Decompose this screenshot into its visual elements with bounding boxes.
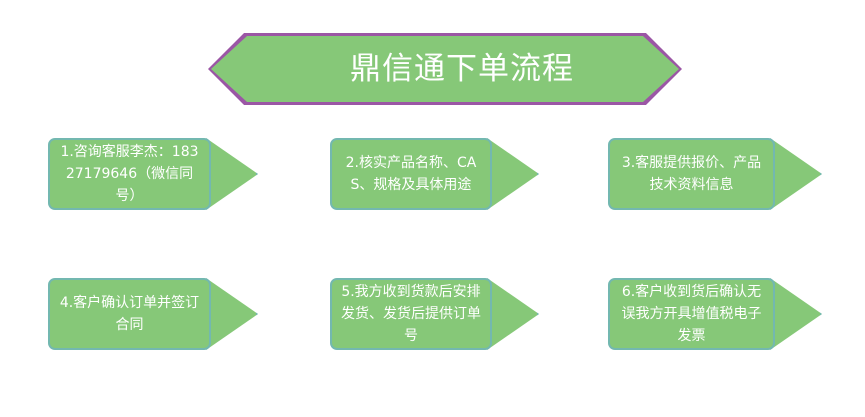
chevron-arrow-icon (770, 278, 822, 350)
chevron-arrow-icon (487, 278, 539, 350)
flow-step-body: 5.我方收到货款后安排发货、发货后提供订单号 (330, 278, 492, 350)
flow-step-label: 6.客户收到货后确认无误我方开具增值税电子发票 (610, 281, 773, 347)
flowchart-canvas: 鼎信通下单流程 1.咨询客服李杰：18327179646（微信同号） 2.核实产… (0, 0, 865, 417)
flow-step-6: 6.客户收到货后确认无误我方开具增值税电子发票 (608, 278, 823, 350)
flow-step-label: 2.核实产品名称、CAS、规格及具体用途 (332, 152, 490, 196)
flow-step-4: 4.客户确认订单并签订合同 (48, 278, 263, 350)
chevron-arrow-icon (206, 138, 258, 210)
flowchart-title-banner: 鼎信通下单流程 (208, 33, 682, 105)
flow-step-2: 2.核实产品名称、CAS、规格及具体用途 (330, 138, 540, 210)
flow-step-1: 1.咨询客服李杰：18327179646（微信同号） (48, 138, 263, 210)
flow-step-label: 1.咨询客服李杰：18327179646（微信同号） (50, 141, 209, 207)
flow-step-3: 3.客服提供报价、产品技术资料信息 (608, 138, 823, 210)
flow-step-label: 3.客服提供报价、产品技术资料信息 (610, 152, 773, 196)
flow-step-body: 1.咨询客服李杰：18327179646（微信同号） (48, 138, 211, 210)
flow-step-body: 6.客户收到货后确认无误我方开具增值税电子发票 (608, 278, 775, 350)
flow-step-body: 2.核实产品名称、CAS、规格及具体用途 (330, 138, 492, 210)
flow-step-body: 4.客户确认订单并签订合同 (48, 278, 211, 350)
chevron-arrow-icon (487, 138, 539, 210)
flow-step-label: 4.客户确认订单并签订合同 (50, 292, 209, 336)
flowchart-title-text: 鼎信通下单流程 (208, 33, 682, 105)
flow-step-label: 5.我方收到货款后安排发货、发货后提供订单号 (332, 281, 490, 347)
chevron-arrow-icon (206, 278, 258, 350)
flow-step-body: 3.客服提供报价、产品技术资料信息 (608, 138, 775, 210)
flow-step-5: 5.我方收到货款后安排发货、发货后提供订单号 (330, 278, 540, 350)
chevron-arrow-icon (770, 138, 822, 210)
